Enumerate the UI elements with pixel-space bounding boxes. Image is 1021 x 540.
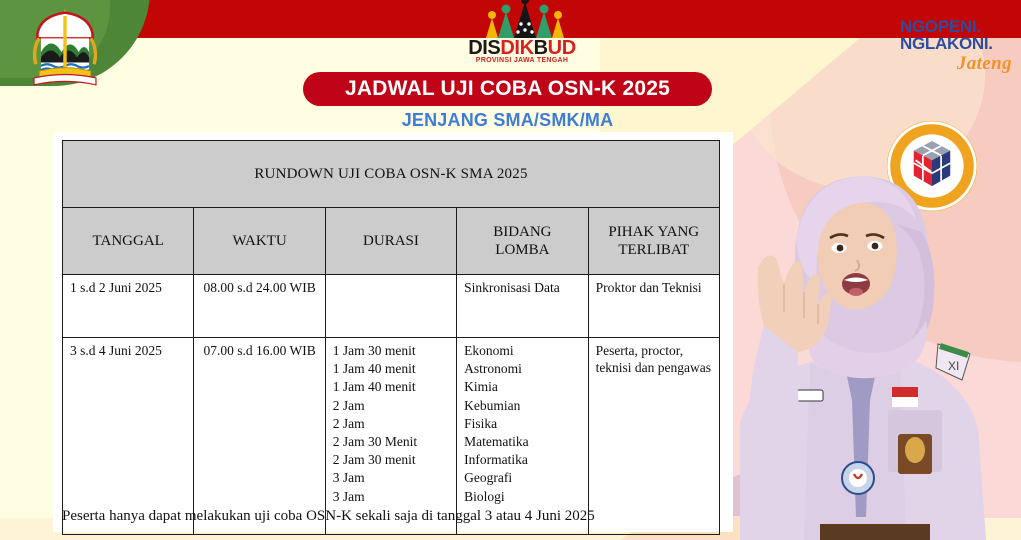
cell-tanggal-row1: 1 s.d 2 Juni 2025 — [63, 275, 194, 338]
cell-tanggal-row2: 3 s.d 4 Juni 2025 — [63, 338, 194, 535]
table-row: 1 s.d 2 Juni 2025 08.00 s.d 24.00 WIB Si… — [63, 275, 720, 338]
disdikbud-part-dis: DIS — [468, 37, 500, 59]
page-subtitle: JENJANG SMA/SMK/MA — [303, 110, 712, 131]
student-shouting-photo: XI — [700, 172, 1020, 540]
ngopeni-nglakoni-logo: NGOPENI. NGLAKONI. Jateng — [900, 18, 1012, 80]
list-item: 2 Jam — [333, 415, 449, 433]
column-header-waktu: WAKTU — [194, 208, 325, 275]
cell-waktu-row2: 07.00 s.d 16.00 WIB — [194, 338, 325, 535]
disdikbud-part-b: B — [534, 37, 548, 59]
cell-waktu-row1: 08.00 s.d 24.00 WIB — [194, 275, 325, 338]
page-title: JADWAL UJI COBA OSN-K 2025 — [303, 72, 712, 106]
list-item: Fisika — [464, 415, 580, 433]
column-header-bidang-line2: LOMBA — [464, 241, 580, 259]
list-item: 2 Jam — [333, 397, 449, 415]
ngopeni-jateng-script: Jateng — [900, 53, 1012, 75]
rundown-table: RUNDOWN UJI COBA OSN-K SMA 2025 TANGGAL … — [62, 140, 720, 535]
column-header-tanggal: TANGGAL — [63, 208, 194, 275]
column-header-durasi: DURASI — [325, 208, 456, 275]
cell-bidang-row1: Sinkronisasi Data — [457, 275, 588, 338]
list-item: 1 Jam 30 menit — [333, 342, 449, 360]
cell-durasi-row2: 1 Jam 30 menit1 Jam 40 menit1 Jam 40 men… — [325, 338, 456, 535]
ngopeni-line2: NGLAKONI. — [900, 35, 1012, 52]
table-row: 3 s.d 4 Juni 2025 07.00 s.d 16.00 WIB 1 … — [63, 338, 720, 535]
ngopeni-line1: NGOPENI. — [900, 18, 1012, 35]
list-item: 3 Jam — [333, 488, 449, 506]
jawa-tengah-emblem-icon — [22, 4, 108, 90]
list-item: 1 Jam 40 menit — [333, 378, 449, 396]
column-header-pihak-line1: PIHAK YANG — [596, 223, 712, 241]
cell-bidang-row2: EkonomiAstronomiKimiaKebumianFisikaMatem… — [457, 338, 588, 535]
bidang-list: EkonomiAstronomiKimiaKebumianFisikaMatem… — [464, 342, 580, 506]
cell-durasi-row1 — [325, 275, 456, 338]
column-header-pihak-terlibat: PIHAK YANG TERLIBAT — [588, 208, 719, 275]
list-item: Matematika — [464, 433, 580, 451]
table-caption-row: RUNDOWN UJI COBA OSN-K SMA 2025 — [63, 141, 720, 208]
table-caption: RUNDOWN UJI COBA OSN-K SMA 2025 — [63, 141, 720, 208]
list-item: Ekonomi — [464, 342, 580, 360]
list-item: 3 Jam — [333, 469, 449, 487]
disdikbud-logo: DISDIKBUD PROVINSI JAWA TENGAH — [452, 2, 592, 64]
schedule-sheet: RUNDOWN UJI COBA OSN-K SMA 2025 TANGGAL … — [53, 132, 733, 532]
list-item: Informatika — [464, 451, 580, 469]
column-header-bidang-line1: BIDANG — [464, 223, 580, 241]
disdikbud-part-ud: UD — [548, 37, 576, 59]
durasi-list: 1 Jam 30 menit1 Jam 40 menit1 Jam 40 men… — [333, 342, 449, 506]
cell-pihak-row2: Peserta, proctor, teknisi dan pengawas — [588, 338, 719, 535]
table-footnote: Peserta hanya dapat melakukan uji coba O… — [62, 508, 720, 525]
list-item: Geografi — [464, 469, 580, 487]
cell-pihak-row1: Proktor dan Teknisi — [588, 275, 719, 338]
list-item: 2 Jam 30 menit — [333, 451, 449, 469]
disdikbud-subtitle: PROVINSI JAWA TENGAH — [452, 57, 592, 64]
list-item: 1 Jam 40 menit — [333, 360, 449, 378]
list-item: Astronomi — [464, 360, 580, 378]
svg-text:XI: XI — [948, 359, 959, 373]
list-item: Kebumian — [464, 397, 580, 415]
disdikbud-wordmark: DISDIKBUD — [452, 38, 592, 58]
disdikbud-part-dik: DIK — [500, 37, 533, 59]
list-item: Biologi — [464, 488, 580, 506]
poster-canvas: DISDIKBUD PROVINSI JAWA TENGAH NGOPENI. … — [0, 0, 1021, 540]
table-header-row: TANGGAL WAKTU DURASI BIDANG LOMBA PIHAK … — [63, 208, 720, 275]
column-header-pihak-line2: TERLIBAT — [596, 241, 712, 259]
list-item: Kimia — [464, 378, 580, 396]
column-header-bidang-lomba: BIDANG LOMBA — [457, 208, 588, 275]
list-item: 2 Jam 30 Menit — [333, 433, 449, 451]
